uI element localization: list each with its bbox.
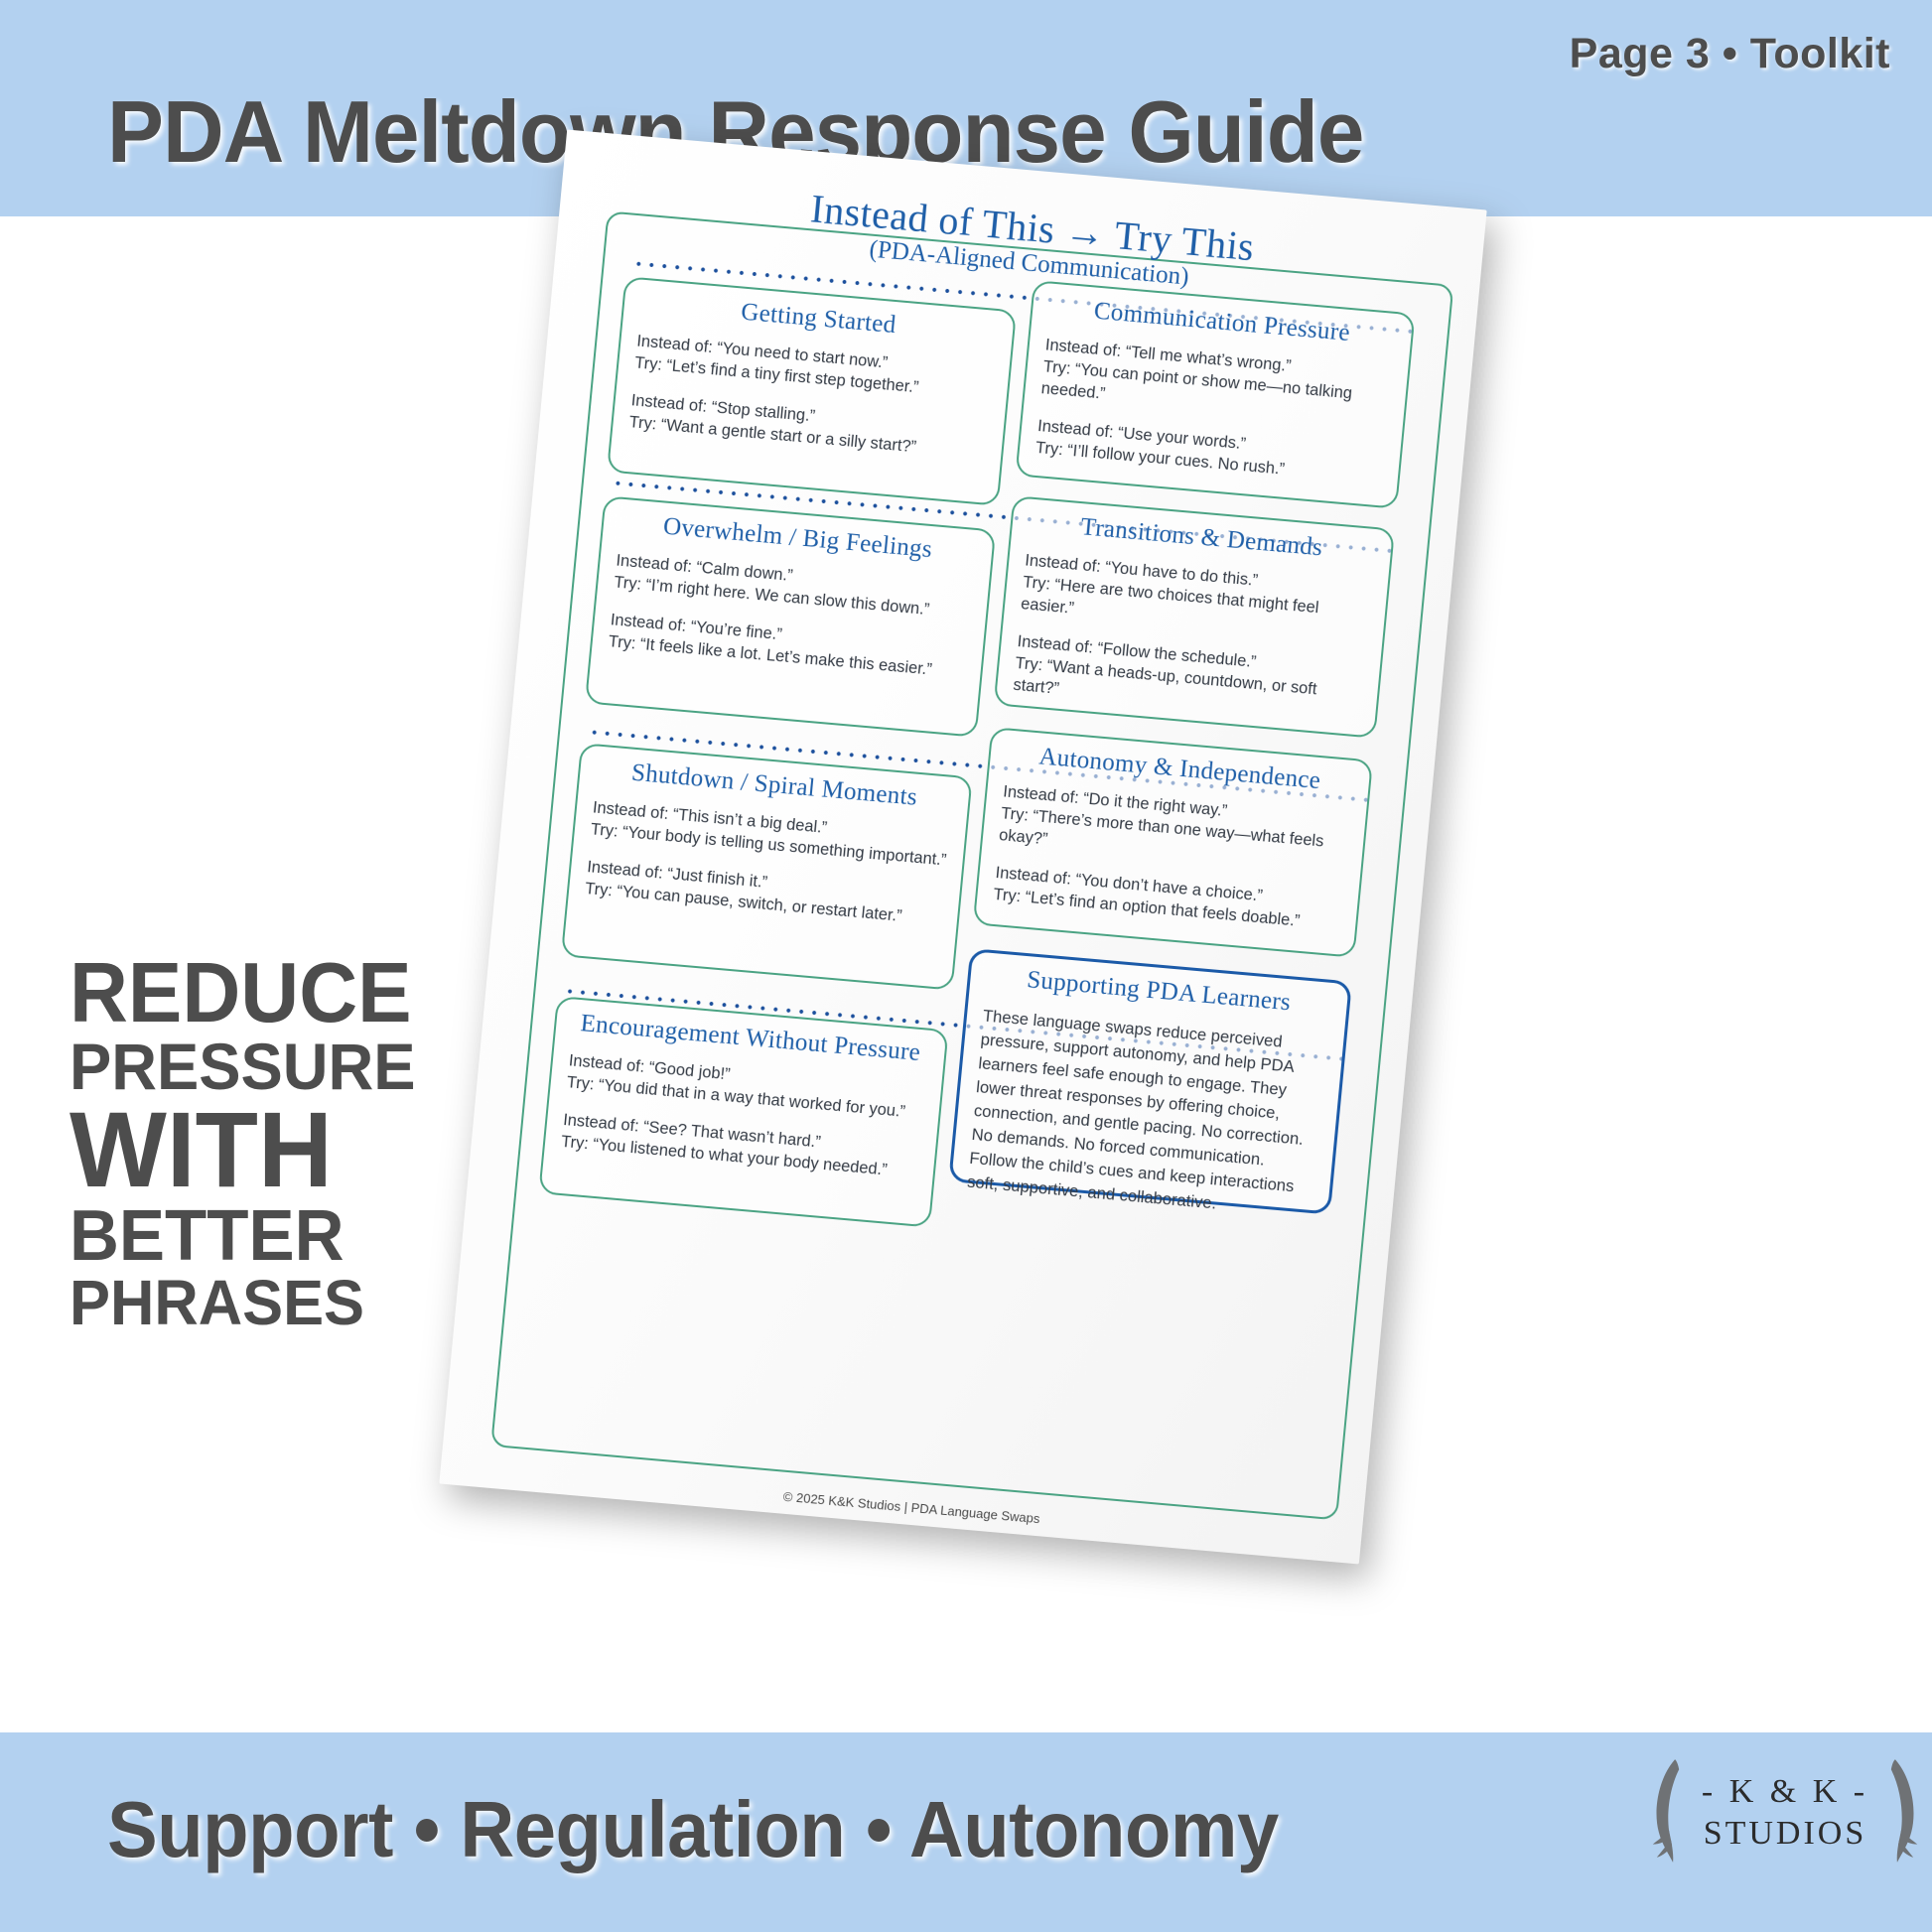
card-overwhelm-big-feelings: Overwhelm / Big Feelings Instead of: “Ca… [585,495,996,738]
card-supporting-pda-learners: Supporting PDA Learners These language s… [948,948,1352,1215]
card-transitions-demands: Transitions & Demands Instead of: “You h… [994,495,1395,739]
copyright-text: © 2025 K&K Studios | PDA Language Swaps [489,1463,1333,1552]
promo-line-5: PHRASES [69,1272,451,1333]
swap-pair: Instead of: “See? That wasn’t hard.” Try… [560,1110,920,1184]
swap-pair: Instead of: “Use your words.” Try: “I’ll… [1035,416,1385,489]
brand-logo: - K & K - STUDIOS [1636,1755,1932,1914]
swap-pair: Instead of: “Stop stalling.” Try: “Want … [628,390,989,465]
logo-line-1: - K & K - [1636,1773,1932,1811]
card-shutdown-spiral-moments: Shutdown / Spiral Moments Instead of: “T… [561,743,973,991]
card-communication-pressure: Communication Pressure Instead of: “Tell… [1015,280,1415,509]
note-body: These language swaps reduce perceived pr… [966,1004,1328,1224]
promo-line-1: REDUCE [69,953,451,1035]
promo-line-3: WITH [69,1098,451,1202]
printable-sheet: Instead of This → Try This (PDA-Aligned … [439,130,1486,1565]
swap-pair: Instead of: “Follow the schedule.” Try: … [1012,631,1364,727]
card-autonomy-independence: Autonomy & Independence Instead of: “Do … [973,727,1373,958]
swap-pair: Instead of: “You have to do this.” Try: … [1020,550,1372,645]
bottom-tagline: Support • Regulation • Autonomy [107,1784,1279,1875]
swap-pair: Instead of: “Do it the right way.” Try: … [998,781,1350,877]
card-encouragement-without-pressure: Encouragement Without Pressure Instead o… [538,996,948,1228]
card-getting-started: Getting Started Instead of: “You need to… [607,276,1017,506]
promo-text: REDUCE PRESSURE WITH BETTER PHRASES [69,953,467,1333]
sheet-frame: Instead of This → Try This (PDA-Aligned … [490,210,1453,1520]
logo-line-2: STUDIOS [1636,1815,1932,1853]
swap-pair: Instead of: “You don’t have a choice.” T… [993,863,1343,936]
page-label: Page 3 • Toolkit [1570,30,1890,78]
swap-pair: Instead of: “You’re fine.” Try: “It feel… [608,610,968,684]
promo-line-4: BETTER [69,1202,451,1272]
swap-pair: Instead of: “Just finish it.” Try: “You … [584,857,944,931]
swap-pair: Instead of: “Tell me what’s wrong.” Try:… [1040,335,1393,430]
